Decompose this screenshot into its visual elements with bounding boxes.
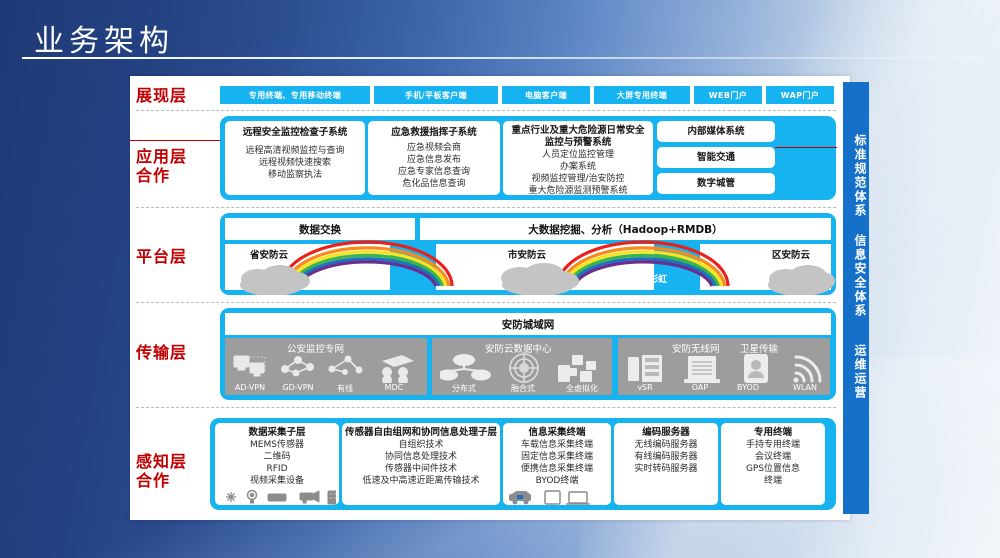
card-line: 办案系统: [560, 161, 596, 173]
divider-transmission: [136, 407, 836, 408]
transmission-icon-label: WLAN: [782, 383, 828, 392]
card-line: 协同信息处理技术: [385, 451, 457, 463]
transmission-icon-label: GD-VPN: [275, 383, 321, 392]
application-side-item-1[interactable]: 智能交通: [657, 147, 775, 168]
application-card-1[interactable]: 应急救援指挥子系统 应急视频会商 应急信息发布 应急专家信息查询 危化品信息查询: [368, 121, 500, 195]
card-line: BYOD终端: [536, 475, 579, 487]
card-line: 视频监控管理/治安防控: [531, 173, 624, 185]
transmission-banner-label: 安防城域网: [225, 313, 831, 335]
perception-card-2[interactable]: 信息采集终端 车载信息采集终端 固定信息采集终端 便携信息采集终端 BYOD终端: [503, 423, 611, 505]
card-header: 传感器自由组网和协同信息处理子层: [345, 427, 497, 439]
transmission-banner[interactable]: 安防城域网: [225, 313, 831, 335]
card-line: 便携信息采集终端: [521, 463, 593, 475]
card-header: 远程安全监控检查子系统: [243, 127, 348, 139]
transmission-group-2-icons: [626, 353, 824, 383]
presentation-item-0[interactable]: 专用终端、专用移动终端: [220, 86, 370, 104]
card-line: 应急信息发布: [407, 154, 461, 166]
presentation-item-label: 电脑客户端: [525, 90, 567, 101]
sidebar-item-security[interactable]: 信息安全体系: [843, 234, 869, 318]
perception-card-3[interactable]: 编码服务器 无线编码服务器 有线编码服务器 实时转码服务器: [614, 423, 718, 505]
card-line: 无线编码服务器: [634, 439, 697, 451]
card-line: 远程高清视频监控与查询: [245, 145, 344, 157]
card-line: 移动监察执法: [268, 169, 322, 181]
card-header: 信息采集终端: [528, 427, 585, 439]
perception-card-1[interactable]: 传感器自由组网和协同信息处理子层 自组织技术 协同信息处理技术 传感器中间件技术…: [342, 423, 500, 505]
card-header: 编码服务器: [642, 427, 690, 439]
transmission-icon-label: MDC: [375, 383, 413, 392]
card-line: 终端: [764, 475, 782, 487]
card-line: 实时转码服务器: [634, 463, 697, 475]
sidebar-vertical-bar: 标准规范体系 信息安全体系 运维运营: [843, 82, 869, 514]
transmission-icon-label: AD-VPN: [228, 383, 272, 392]
platform-title-1[interactable]: 大数据挖掘、分析（Hadoop+RMDB）: [420, 218, 831, 240]
card-header: 应急救援指挥子系统: [391, 127, 477, 139]
card-line: 传感器中间件技术: [385, 463, 457, 475]
card-line: 二维码: [263, 451, 290, 463]
perception-card-4[interactable]: 专用终端 手持专用终端 会议终端 GPS位置信息 终端: [721, 423, 825, 505]
card-line: 手持专用终端: [746, 439, 800, 451]
card-header: 专用终端: [754, 427, 792, 439]
card-line: 视频采集设备: [250, 475, 304, 487]
layer-label-application-line2: 合作: [136, 166, 187, 185]
presentation-item-3[interactable]: 大屏专用终端: [594, 86, 690, 104]
presentation-item-label: 手机/平板客户端: [405, 90, 467, 101]
platform-cloud-label-1: 市安防云: [508, 247, 546, 261]
page-title: 业务架构: [34, 16, 174, 60]
card-line: 低速及中高速近距离传输技术: [362, 475, 479, 487]
transmission-icon-label: 分布式: [441, 383, 487, 394]
card-line: 有线编码服务器: [634, 451, 697, 463]
presentation-item-label: 大屏专用终端: [617, 90, 667, 101]
layer-label-application-line1: 应用层: [136, 147, 187, 166]
layer-label-application: 应用层 合作: [136, 147, 187, 185]
platform-cloud-label-2: 区安防云: [772, 247, 810, 261]
presentation-item-label: 专用终端、专用移动终端: [249, 90, 341, 101]
transmission-icon-label: 有线: [328, 383, 362, 394]
divider-platform: [136, 302, 836, 303]
title-divider: [22, 57, 978, 59]
application-side-item-2[interactable]: 数字城管: [657, 173, 775, 194]
card-line: GPS位置信息: [746, 463, 800, 475]
card-line: MEMS传感器: [250, 439, 304, 451]
divider-application: [136, 207, 836, 208]
side-item-label: 数字城管: [697, 178, 735, 190]
transmission-icon-label: OAP: [680, 383, 720, 392]
card-line: 远程视频快速搜索: [259, 157, 331, 169]
card-line: 应急专家信息查询: [398, 166, 470, 178]
application-side-accent-line: [775, 147, 837, 148]
application-side-item-0[interactable]: 内部媒体系统: [657, 121, 775, 142]
presentation-item-label: WEB门户: [709, 90, 747, 101]
application-card-2[interactable]: 重点行业及重大危险源日常安全监控与预警系统 人员定位监控管理 办案系统 视频监控…: [503, 121, 653, 195]
card-line: 会议终端: [755, 451, 791, 463]
card-line: 人员定位监控管理: [542, 149, 614, 161]
layer-label-transmission: 传输层: [136, 343, 187, 362]
platform-title-label: 数据交换: [225, 218, 415, 240]
presentation-item-2[interactable]: 电脑客户端: [502, 86, 590, 104]
transmission-group-1-icons: [440, 353, 606, 383]
card-header: 重点行业及重大危险源日常安全监控与预警系统: [503, 125, 653, 149]
application-card-0[interactable]: 远程安全监控检查子系统 远程高清视频监控与查询 远程视频快速搜索 移动监察执法: [225, 121, 365, 195]
card-line: 应急视频会商: [407, 142, 461, 154]
card-line: RFID: [266, 463, 287, 475]
divider-presentation: [136, 110, 836, 111]
perception-card-2-icons: [507, 489, 607, 505]
card-header: 数据采集子层: [248, 427, 305, 439]
side-item-label: 智能交通: [697, 152, 735, 164]
presentation-item-1[interactable]: 手机/平板客户端: [374, 86, 498, 104]
layer-label-platform: 平台层: [136, 247, 187, 266]
platform-cloud-label-0: 省安防云: [250, 247, 288, 261]
sidebar-item-operations[interactable]: 运维运营: [843, 344, 869, 400]
card-line: 重大危险源监测预警系统: [528, 185, 627, 197]
presentation-item-label: WAP门户: [781, 90, 820, 101]
card-line: 固定信息采集终端: [521, 451, 593, 463]
layer-label-perception-line2: 合作: [136, 471, 187, 490]
sidebar-item-standards[interactable]: 标准规范体系: [843, 134, 869, 218]
presentation-item-4[interactable]: WEB门户: [694, 86, 762, 104]
layer-label-perception: 感知层 合作: [136, 452, 187, 490]
layer-label-perception-line1: 感知层: [136, 452, 187, 471]
transmission-group-0-icons: [232, 353, 422, 383]
presentation-item-5[interactable]: WAP门户: [766, 86, 834, 104]
card-line: 自组织技术: [398, 439, 443, 451]
side-item-label: 内部媒体系统: [687, 126, 744, 138]
card-line: 车载信息采集终端: [521, 439, 593, 451]
transmission-icon-label: BYOD: [726, 383, 770, 392]
card-line: 危化品信息查询: [402, 178, 465, 190]
perception-card-0-icons: [218, 489, 336, 505]
platform-title-label: 大数据挖掘、分析（Hadoop+RMDB）: [420, 218, 831, 240]
platform-title-0[interactable]: 数据交换: [225, 218, 415, 240]
application-accent-line: [130, 140, 222, 141]
transmission-icon-label: vSR: [626, 383, 664, 392]
transmission-icon-label: 融合式: [500, 383, 546, 394]
layer-label-presentation: 展现层: [136, 86, 187, 105]
perception-card-0[interactable]: 数据采集子层 MEMS传感器 二维码 RFID 视频采集设备: [215, 423, 339, 505]
transmission-icon-label: 全虚拟化: [556, 383, 608, 394]
